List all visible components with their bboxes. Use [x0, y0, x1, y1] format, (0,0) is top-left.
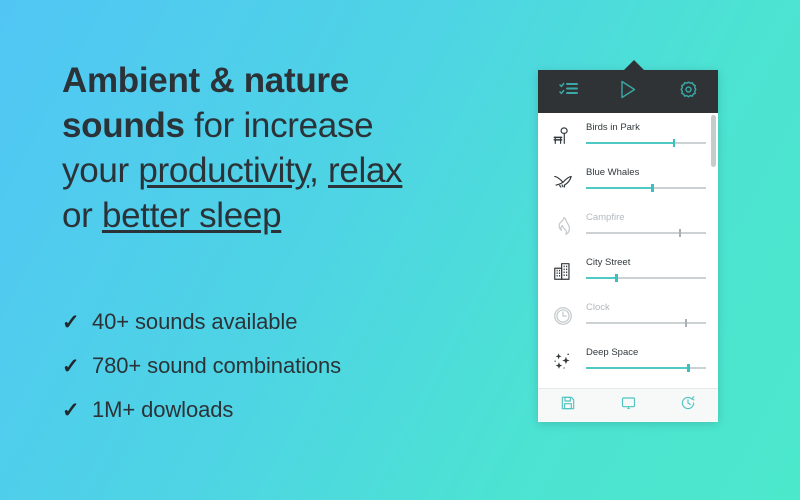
- headline-link-productivity: productivity: [138, 151, 309, 190]
- headline-for-increase: for increase: [185, 106, 374, 145]
- slider-thumb[interactable]: [673, 139, 676, 147]
- bullet-label: 780+ sound combinations: [92, 353, 341, 379]
- sound-item-content: Blue Whales: [578, 167, 706, 194]
- bullet-label: 1M+ dowloads: [92, 397, 233, 423]
- cast-button[interactable]: [598, 389, 658, 422]
- app-panel: Birds in Park Blue Whales: [538, 70, 718, 422]
- slider-thumb[interactable]: [687, 364, 690, 372]
- list-item[interactable]: Birds in Park: [538, 113, 718, 158]
- sound-label: Blue Whales: [586, 167, 706, 179]
- gear-icon: [679, 80, 698, 104]
- cast-icon: [620, 395, 637, 416]
- whale-tail-icon[interactable]: [548, 170, 578, 192]
- sound-label: Birds in Park: [586, 122, 706, 134]
- sound-label: Campfire: [586, 212, 706, 224]
- save-icon: [560, 395, 576, 416]
- sound-label: Clock: [586, 302, 706, 314]
- playlist-icon: [559, 82, 578, 102]
- list-item[interactable]: Campfire: [538, 203, 718, 248]
- check-icon: ✓: [62, 312, 92, 333]
- slider-fill: [586, 277, 616, 279]
- scrollbar[interactable]: [711, 115, 716, 386]
- save-button[interactable]: [538, 389, 598, 422]
- list-item: ✓ 1M+ dowloads: [62, 388, 502, 432]
- slider-fill: [586, 367, 688, 369]
- bullet-label: 40+ sounds available: [92, 309, 297, 335]
- city-buildings-icon[interactable]: [548, 260, 578, 282]
- list-item: ✓ 40+ sounds available: [62, 300, 502, 344]
- headline-your: your: [62, 151, 138, 190]
- play-icon: [618, 79, 638, 105]
- slider-thumb[interactable]: [679, 229, 682, 237]
- sound-label: City Street: [586, 257, 706, 269]
- feature-bullet-list: ✓ 40+ sounds available ✓ 780+ sound comb…: [62, 300, 502, 432]
- page-title: Ambient & nature sounds for increase you…: [62, 58, 502, 238]
- list-item[interactable]: City Street: [538, 248, 718, 293]
- clock-icon[interactable]: [548, 305, 578, 327]
- headline-or: or: [62, 196, 102, 235]
- check-icon: ✓: [62, 400, 92, 421]
- headline-line1: Ambient & nature: [62, 61, 349, 100]
- sound-item-content: Birds in Park: [578, 122, 706, 149]
- panel-footer: [538, 388, 718, 422]
- sparkle-stars-icon[interactable]: [548, 350, 578, 372]
- headline-sounds: sounds: [62, 106, 185, 145]
- sound-item-content: Campfire: [578, 212, 706, 239]
- list-item: ✓ 780+ sound combinations: [62, 344, 502, 388]
- volume-slider[interactable]: [586, 364, 706, 372]
- volume-slider[interactable]: [586, 229, 706, 237]
- marketing-column: Ambient & nature sounds for increase you…: [62, 58, 502, 238]
- volume-slider[interactable]: [586, 274, 706, 282]
- sound-label: Deep Space: [586, 347, 706, 359]
- list-item[interactable]: Deep Space: [538, 338, 718, 383]
- panel-header: [538, 70, 718, 113]
- volume-slider[interactable]: [586, 184, 706, 192]
- headline-link-better-sleep: better sleep: [102, 196, 281, 235]
- slider-fill: [586, 142, 674, 144]
- campfire-flame-icon[interactable]: [548, 215, 578, 237]
- scrollbar-thumb[interactable]: [711, 115, 716, 167]
- slider-thumb[interactable]: [615, 274, 618, 282]
- park-bench-tree-icon[interactable]: [548, 125, 578, 147]
- check-icon: ✓: [62, 356, 92, 377]
- tab-play[interactable]: [598, 70, 658, 113]
- headline-comma: ,: [309, 151, 328, 190]
- volume-slider[interactable]: [586, 139, 706, 147]
- sound-item-content: Deep Space: [578, 347, 706, 374]
- volume-slider[interactable]: [586, 319, 706, 327]
- list-item[interactable]: Blue Whales: [538, 158, 718, 203]
- sound-item-content: City Street: [578, 257, 706, 284]
- slider-fill: [586, 187, 652, 189]
- sound-list: Birds in Park Blue Whales: [538, 113, 718, 388]
- tab-settings[interactable]: [658, 70, 718, 113]
- timer-button[interactable]: [658, 389, 718, 422]
- slider-thumb[interactable]: [651, 184, 654, 192]
- list-item[interactable]: Clock: [538, 293, 718, 338]
- timer-icon: [680, 395, 696, 416]
- tab-playlist[interactable]: [538, 70, 598, 113]
- sound-item-content: Clock: [578, 302, 706, 329]
- headline-link-relax: relax: [328, 151, 402, 190]
- slider-fill: [586, 322, 686, 324]
- slider-thumb[interactable]: [685, 319, 688, 327]
- slider-fill: [586, 232, 680, 234]
